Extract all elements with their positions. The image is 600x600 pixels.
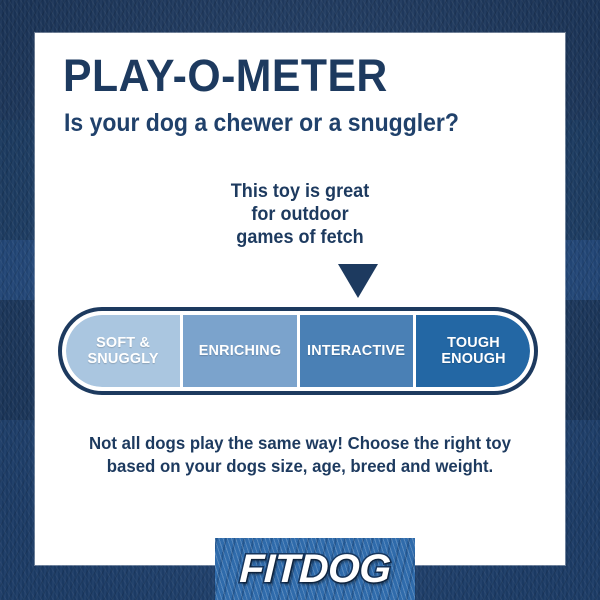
- footer-text: Not all dogs play the same way! Choose t…: [65, 432, 535, 478]
- callout-line-3: games of fetch: [48, 226, 552, 249]
- meter-segment-interactive[interactable]: INTERACTIVE: [300, 315, 414, 387]
- callout-line-1: This toy is great: [48, 180, 552, 203]
- meter-segment-label-line-1: TOUGH: [441, 335, 505, 351]
- callout-text: This toy is great for outdoor games of f…: [48, 180, 552, 249]
- meter-segment-enriching[interactable]: ENRICHING: [183, 315, 297, 387]
- meter-segment-soft-snuggly[interactable]: SOFT & SNUGGLY: [66, 315, 180, 387]
- meter-segment-label-line-2: SNUGGLY: [87, 351, 158, 367]
- brand-logo-panel: FITDOG: [215, 538, 415, 600]
- callout-line-2: for outdoor: [48, 203, 552, 226]
- footer-line-1: Not all dogs play the same way! Choose t…: [65, 432, 535, 455]
- meter-segment-label-line-2: ENOUGH: [441, 351, 505, 367]
- meter-segment-tough-enough[interactable]: TOUGH ENOUGH: [416, 315, 530, 387]
- meter-segment-label-line-1: SOFT &: [87, 335, 158, 351]
- meter-track: SOFT & SNUGGLY ENRICHING INTERACTIVE: [66, 315, 530, 387]
- play-o-meter-scale: SOFT & SNUGGLY ENRICHING INTERACTIVE: [58, 307, 538, 395]
- down-triangle-arrow-icon: [338, 264, 378, 298]
- poster-canvas: PLAY-O-METER Is your dog a chewer or a s…: [0, 0, 600, 600]
- footer-line-2: based on your dogs size, age, breed and …: [65, 455, 535, 478]
- page-subtitle: Is your dog a chewer or a snuggler?: [64, 109, 459, 137]
- meter-segment-label-line-1: ENRICHING: [198, 343, 281, 359]
- page-title: PLAY-O-METER: [63, 51, 388, 101]
- meter-segment-label-line-1: INTERACTIVE: [307, 343, 405, 359]
- brand-logo-text: FITDOG: [239, 547, 392, 592]
- content-card: PLAY-O-METER Is your dog a chewer or a s…: [35, 33, 565, 565]
